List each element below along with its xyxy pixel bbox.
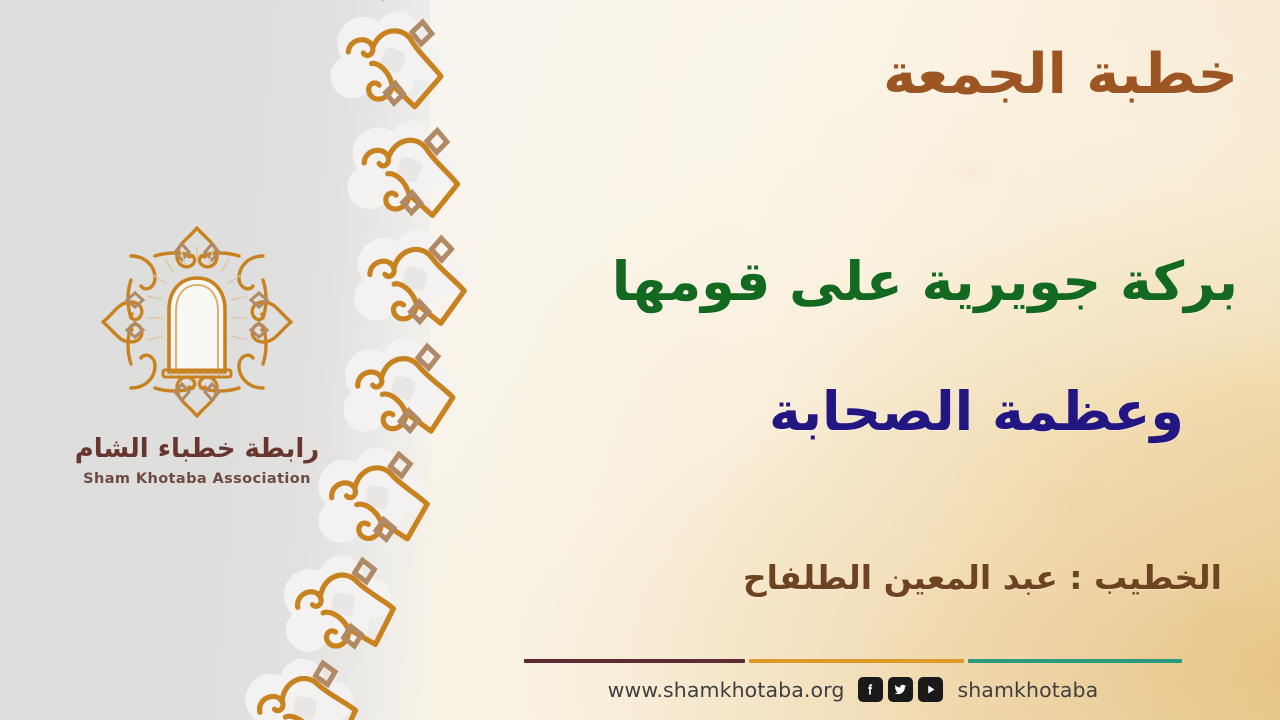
divider-segment-teal [968, 659, 1183, 663]
slide-canvas: رابطة خطباء الشام Sham Khotaba Associati… [0, 0, 1280, 720]
page-title: خطبة الجمعة [883, 44, 1238, 107]
website-url[interactable]: www.shamkhotaba.org [608, 678, 845, 702]
content-column: خطبة الجمعة بركة جويرية على قومها وعظمة … [404, 0, 1244, 720]
facebook-icon[interactable] [858, 677, 883, 702]
footer-row: www.shamkhotaba.org [524, 677, 1182, 702]
logo-name-arabic: رابطة خطباء الشام [62, 436, 332, 462]
divider-segment-maroon [524, 659, 745, 663]
footer: www.shamkhotaba.org [524, 659, 1182, 702]
topic-line-primary: بركة جويرية على قومها [398, 250, 1238, 314]
logo-name-english: Sham Khotaba Association [62, 471, 332, 487]
twitter-icon[interactable] [888, 677, 913, 702]
youtube-icon[interactable] [918, 677, 943, 702]
footer-divider [524, 659, 1182, 663]
speaker-name: الخطيب : عبد المعين الطلفاح [743, 558, 1222, 597]
social-links [858, 677, 943, 702]
logo-block: رابطة خطباء الشام Sham Khotaba Associati… [62, 222, 332, 487]
arabesque-mihrab-medallion-icon [92, 222, 302, 422]
divider-segment-orange [749, 659, 964, 663]
social-handle[interactable]: shamkhotaba [957, 678, 1098, 702]
topic-line-secondary: وعظمة الصحابة [769, 380, 1184, 444]
